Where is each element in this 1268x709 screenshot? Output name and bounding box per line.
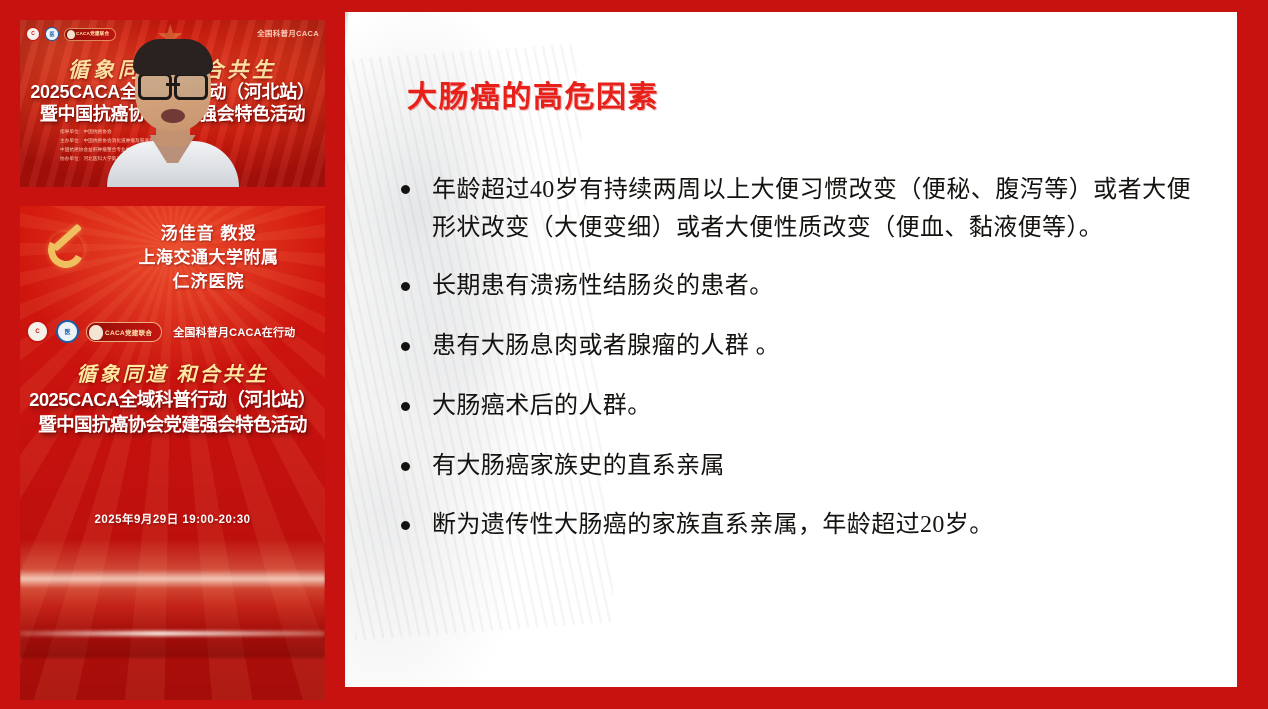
bullet-text: 有大肠癌家族史的直系亲属 [432, 448, 725, 486]
bullet-item: 断为遗传性大肠癌的家族直系亲属，年龄超过20岁。 [401, 507, 1191, 545]
speaker-affiliation-line2: 仁济医院 [100, 270, 317, 294]
caca-emblem-icon: C [26, 320, 49, 343]
bullet-dot-icon [401, 402, 410, 411]
bullet-dot-icon [401, 282, 410, 291]
slide-title: 大肠癌的高危因素 [407, 72, 659, 116]
bullet-text: 年龄超过40岁有持续两周以上大便习惯改变（便秘、腹泻等）或者大便形状改变（大便变… [432, 172, 1191, 248]
bullet-text: 患有大肠息肉或者腺瘤的人群 。 [432, 328, 780, 366]
caca-party-badge-icon: CACA党建联合 [64, 28, 116, 41]
bullet-item: 大肠癌术后的人群。 [401, 388, 1191, 426]
bullet-dot-icon [401, 462, 410, 471]
poster-event-title-line2: 暨中国抗癌协会党建强会特色活动 [20, 411, 325, 437]
caca-party-badge-icon: CACA党建联合 [86, 322, 162, 342]
hospital-emblem-icon: 医 [45, 27, 59, 41]
video-logo-row: C 医 CACA党建联合 [26, 27, 116, 41]
left-column: C 医 CACA党建联合 全国科普月CACA 循象同道 和合共生 2025CAC… [20, 20, 325, 700]
presenter-figure [107, 45, 239, 187]
bullet-item: 长期患有溃疡性结肠炎的患者。 [401, 268, 1191, 306]
presenter-glasses-bridge [166, 83, 180, 86]
poster-calligraphy: 循象同道 和合共生 [20, 358, 325, 387]
slide-bullet-list: 年龄超过40岁有持续两周以上大便习惯改变（便秘、腹泻等）或者大便形状改变（大便变… [401, 172, 1191, 567]
poster-slogan: 全国科普月CACA在行动 [173, 324, 295, 340]
presenter-mouth [161, 109, 185, 123]
bullet-dot-icon [401, 521, 410, 530]
hammer-and-sickle-icon [42, 226, 92, 276]
bullet-item: 患有大肠息肉或者腺瘤的人群 。 [401, 328, 1191, 366]
bullet-dot-icon [401, 342, 410, 351]
poster-light-streak-highlight [20, 631, 325, 636]
speaker-info-block: 汤佳音 教授 上海交通大学附属 仁济医院 [100, 222, 317, 294]
bullet-dot-icon [401, 185, 410, 194]
poster-logo-row: C 医 CACA党建联合 全国科普月CACA在行动 [26, 320, 319, 343]
speaker-affiliation-line1: 上海交通大学附属 [100, 246, 317, 270]
poster-light-streak [20, 538, 325, 658]
video-watermark: 全国科普月CACA [257, 28, 319, 39]
webinar-screen: C 医 CACA党建联合 全国科普月CACA 循象同道 和合共生 2025CAC… [0, 0, 1268, 709]
bullet-text: 长期患有溃疡性结肠炎的患者。 [432, 268, 774, 306]
presentation-slide[interactable]: 大肠癌的高危因素 年龄超过40岁有持续两周以上大便习惯改变（便秘、腹泻等）或者大… [345, 12, 1237, 687]
bullet-text: 断为遗传性大肠癌的家族直系亲属，年龄超过20岁。 [432, 507, 994, 545]
hospital-emblem-icon: 医 [56, 320, 79, 343]
bullet-text: 大肠癌术后的人群。 [432, 388, 652, 426]
presenter-hair [133, 39, 213, 75]
poster-event-title-line1: 2025CACA全域科普行动（河北站） [20, 386, 325, 412]
speaker-name: 汤佳音 教授 [100, 222, 317, 246]
caca-emblem-icon: C [26, 27, 40, 41]
event-datetime: 2025年9月29日 19:00-20:30 [20, 511, 325, 527]
event-poster-panel: 汤佳音 教授 上海交通大学附属 仁济医院 C 医 CACA党建联合 全国科普月C… [20, 206, 325, 700]
bullet-item: 有大肠癌家族史的直系亲属 [401, 448, 1191, 486]
presenter-video-panel[interactable]: C 医 CACA党建联合 全国科普月CACA 循象同道 和合共生 2025CAC… [20, 20, 325, 187]
bullet-item: 年龄超过40岁有持续两周以上大便习惯改变（便秘、腹泻等）或者大便形状改变（大便变… [401, 172, 1191, 248]
